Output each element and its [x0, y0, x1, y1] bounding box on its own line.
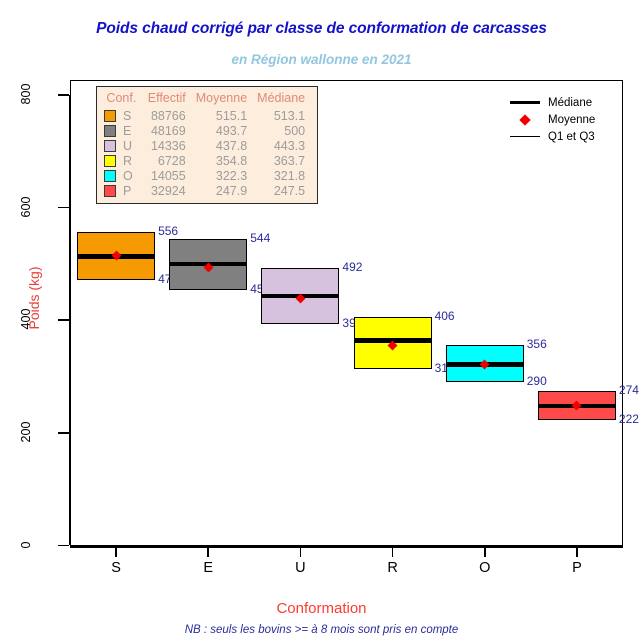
y-tick: [58, 207, 69, 209]
stats-cell: 515.1: [191, 108, 252, 123]
x-tick: [392, 547, 394, 557]
y-tick-label: 0: [19, 525, 33, 565]
q3-label-s: 556: [158, 224, 178, 238]
quartile-line-icon: [505, 136, 545, 137]
swatch-cell: [102, 183, 121, 198]
stats-cell: 247.5: [252, 183, 310, 198]
q3-label-o: 356: [527, 337, 547, 351]
x-axis-line: [70, 546, 623, 548]
stats-cell: 322.3: [191, 168, 252, 183]
q1-label-p: 222: [619, 412, 639, 426]
x-tick: [484, 547, 486, 557]
x-axis-title: Conformation: [0, 600, 643, 617]
legend-item-quartiles: Q1 et Q3: [505, 128, 595, 145]
stats-cell: 88766: [143, 108, 191, 123]
legend-item-mediane: Médiane: [505, 94, 595, 111]
x-tick: [115, 547, 117, 557]
color-swatch-r: [104, 155, 116, 167]
y-tick: [58, 319, 69, 321]
stats-cell: 513.1: [252, 108, 310, 123]
stats-legend-header-effectif: Effectif: [143, 91, 191, 108]
x-tick-label-s: S: [94, 560, 138, 576]
stats-legend-row: P32924247.9247.5: [102, 183, 310, 198]
stats-legend-header-row: Conf.EffectifMoyenneMédiane: [102, 91, 310, 108]
x-tick-label-r: R: [371, 560, 415, 576]
y-axis-line: [69, 95, 71, 545]
x-tick-label-p: P: [555, 560, 599, 576]
stats-cell: 247.9: [191, 183, 252, 198]
chart-footnote: NB : seuls les bovins >= à 8 mois sont p…: [0, 624, 643, 636]
stats-cell: O: [121, 168, 143, 183]
stats-cell: E: [121, 123, 143, 138]
x-tick-label-u: U: [278, 560, 322, 576]
swatch-cell: [102, 153, 121, 168]
legend-label-mediane: Médiane: [548, 97, 592, 109]
color-swatch-o: [104, 170, 116, 182]
stats-cell: 6728: [143, 153, 191, 168]
chart-title: Poids chaud corrigé par classe de confor…: [0, 20, 643, 38]
stats-legend-header-mdiane: Médiane: [252, 91, 310, 108]
y-tick: [58, 432, 69, 434]
stats-legend-row: R6728354.8363.7: [102, 153, 310, 168]
chart-subtitle: en Région wallonne en 2021: [0, 52, 643, 67]
color-swatch-s: [104, 110, 116, 122]
y-tick: [58, 94, 69, 96]
q3-label-e: 544: [250, 231, 270, 245]
stats-cell: 363.7: [252, 153, 310, 168]
q3-label-u: 492: [342, 260, 362, 274]
stats-cell: 14336: [143, 138, 191, 153]
stats-cell: S: [121, 108, 143, 123]
y-tick-label: 800: [19, 74, 33, 114]
stats-cell: 493.7: [191, 123, 252, 138]
x-tick-label-o: O: [463, 560, 507, 576]
stats-legend-row: U14336437.8443.3: [102, 138, 310, 153]
x-tick: [207, 547, 209, 557]
y-tick-label: 200: [19, 412, 33, 452]
color-swatch-e: [104, 125, 116, 137]
x-tick: [576, 547, 578, 557]
q1-label-o: 290: [527, 374, 547, 388]
stats-cell: 32924: [143, 183, 191, 198]
swatch-cell: [102, 123, 121, 138]
stats-legend-row: S88766515.1513.1: [102, 108, 310, 123]
stats-legend-header-conf: Conf.: [102, 91, 143, 108]
stats-legend-header-moyenne: Moyenne: [191, 91, 252, 108]
stats-cell: 321.8: [252, 168, 310, 183]
y-tick-label: 600: [19, 187, 33, 227]
x-tick-label-e: E: [186, 560, 230, 576]
stats-cell: P: [121, 183, 143, 198]
stats-cell: 443.3: [252, 138, 310, 153]
q3-label-r: 406: [435, 309, 455, 323]
legend-item-moyenne: Moyenne: [505, 111, 595, 128]
median-line-icon: [505, 101, 545, 104]
mean-diamond-icon: [505, 116, 545, 124]
stats-cell: 14055: [143, 168, 191, 183]
legend-label-moyenne: Moyenne: [548, 114, 595, 126]
stats-legend-row: O14055322.3321.8: [102, 168, 310, 183]
q3-label-p: 274: [619, 383, 639, 397]
series-legend: Médiane Moyenne Q1 et Q3: [505, 94, 595, 145]
stats-cell: 437.8: [191, 138, 252, 153]
x-tick: [300, 547, 302, 557]
stats-cell: U: [121, 138, 143, 153]
stats-cell: R: [121, 153, 143, 168]
swatch-cell: [102, 138, 121, 153]
legend-label-quartiles: Q1 et Q3: [548, 131, 595, 143]
y-tick: [58, 545, 69, 547]
swatch-cell: [102, 108, 121, 123]
color-swatch-u: [104, 140, 116, 152]
stats-legend-table: Conf.EffectifMoyenneMédiane S88766515.15…: [96, 86, 318, 204]
swatch-cell: [102, 168, 121, 183]
stats-cell: 354.8: [191, 153, 252, 168]
stats-cell: 48169: [143, 123, 191, 138]
y-axis-title: Poids (kg): [26, 248, 42, 348]
stats-legend-row: E48169493.7500: [102, 123, 310, 138]
color-swatch-p: [104, 185, 116, 197]
stats-cell: 500: [252, 123, 310, 138]
